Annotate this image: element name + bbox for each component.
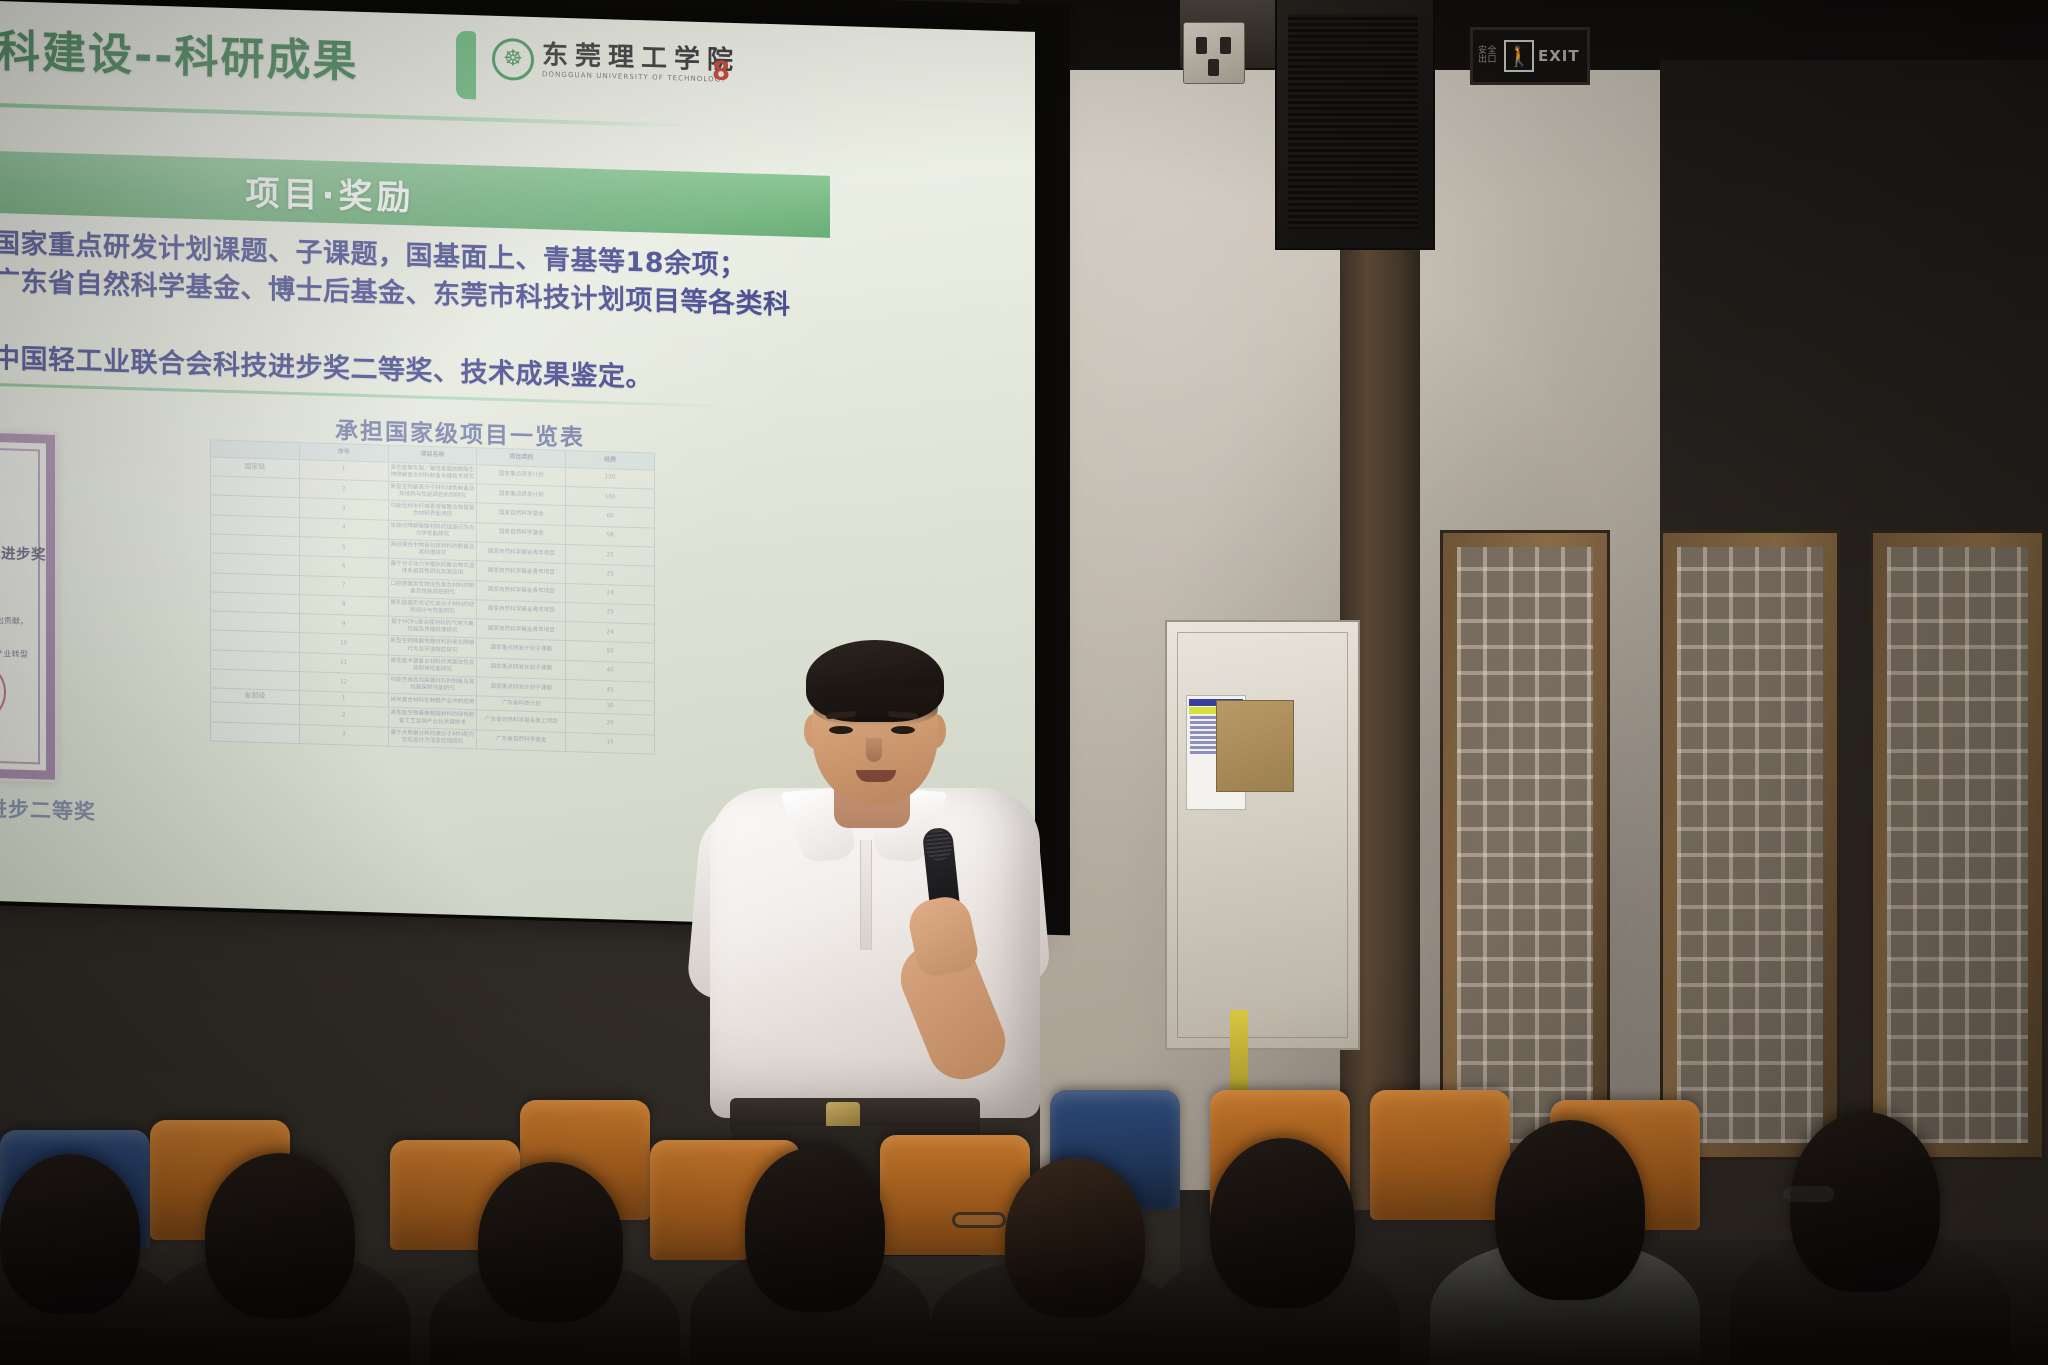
cell-name: 基于MOFs复合膜材料的气体分离性能及传输机理研究 [388, 616, 477, 638]
cell-type: 国家自然科学基金 [477, 503, 566, 525]
cell-index: 4 [299, 517, 388, 539]
university-logo: ☸ 东莞理工学院 DONGGUAN UNIVERSITY OF TECHNOLO… [492, 38, 740, 87]
cell-amount: 25 [566, 564, 655, 586]
cell-index: 5 [299, 536, 388, 558]
exit-sign: 安全出口 🚶 EXIT [1470, 27, 1590, 85]
section-banner: 项目·奖励 [0, 146, 830, 238]
presenter-shirt-placket [860, 840, 872, 950]
cell-group [211, 702, 300, 724]
cell-group [211, 515, 300, 537]
cell-name: 基于分子动力学模拟的聚合物共混体系相容性研究及其应用 [388, 558, 477, 580]
cell-group [211, 592, 300, 614]
cell-name: 新型生物降解地膜材料的老化降解行为及环境效应研究 [388, 636, 477, 658]
cell-amount: 25 [566, 602, 655, 624]
cell-index: 3 [299, 498, 388, 520]
award-certificate: 中国轻工业联合会科学技术进步奖 证书 为表彰在轻工业科学技术进步中做出突出贡献，… [0, 428, 55, 780]
cell-group [211, 650, 300, 672]
presenter-nose [866, 738, 882, 762]
wall-socket-icon [1183, 22, 1245, 84]
exit-sign-label-en: EXIT [1538, 47, 1580, 65]
cell-group: 国家级 [211, 457, 300, 479]
cell-index: 10 [299, 633, 388, 655]
cell-index: 1 [299, 459, 388, 481]
cell-group [211, 495, 300, 517]
cell-type: 国家重点研发计划子课题 [477, 677, 566, 699]
cell-index: 9 [299, 614, 388, 636]
certificate-field: 项目名称： 生产性服务业促进东莞制鞋产业转型升级研究 [0, 642, 28, 677]
cell-type: 国家重点研发计划 [477, 484, 566, 506]
cell-name: 功能化纳米纤维素增强聚合物基复合材料界面调控 [388, 501, 477, 523]
slide-bullet-list: 国家级项目：国家重点研发计划课题、子课题，国基面上、青基等18余项； 其他类项目… [0, 220, 788, 402]
chair[interactable] [1370, 1090, 1510, 1220]
cell-type: 广东省自然科学基金 [477, 730, 566, 752]
cell-name: 高性能生物基聚氨酯材料的绿色制备工艺及其产业化关键技术 [388, 708, 477, 730]
cell-index: 3 [299, 724, 388, 746]
cell-type: 国家自然科学基金青年项目 [477, 619, 566, 641]
section-banner-label: 项目·奖励 [246, 165, 415, 219]
cell-group [211, 553, 300, 575]
cell-group [211, 669, 300, 691]
notice-panel-inner [1177, 632, 1348, 1038]
door-far-right[interactable] [1870, 530, 2045, 1160]
wall-notice-panel-icon [1165, 620, 1360, 1050]
cell-amount: 120 [566, 467, 655, 489]
cell-index: 2 [299, 705, 388, 727]
door-grille [1677, 547, 1823, 1143]
cell-name: 高阻隔性生物基包装材料的制备及其机理研究 [388, 539, 477, 561]
cell-name: 高性能木塑复合材料的界面改性及其耐候性能研究 [388, 655, 477, 677]
cell-group [211, 611, 300, 633]
presenter-eye-left [829, 726, 853, 734]
cell-group [211, 476, 300, 498]
cell-group [211, 534, 300, 556]
certificate-word: 证书 [0, 565, 46, 611]
presenter-mouth [856, 770, 896, 782]
floor-shadow [0, 1245, 2048, 1365]
door-grille [1887, 547, 2028, 1143]
cell-name: 生物可降解聚酯材料的结晶行为与力学性能研究 [388, 520, 477, 542]
cell-type: 国家重点研发计划 [477, 465, 566, 487]
audience-glasses-icon [1780, 1186, 1834, 1202]
cell-type: 国家重点研发计划子课题 [477, 638, 566, 660]
door-grille [1457, 547, 1593, 1143]
cell-type: 广东省自然科学基金面上项目 [477, 710, 566, 732]
presenter-eye-right [891, 726, 915, 734]
cell-name: 聚乳酸基形状记忆高分子材料的结构设计与性能研究 [388, 597, 477, 619]
cell-name: 新型生物基高分子材料绿色制备及其结构与性能调控机制研究 [388, 481, 477, 503]
cell-type: 国家自然科学基金青年项目 [477, 542, 566, 564]
cell-amount: 20 [566, 713, 655, 735]
presenter-hair [806, 640, 944, 722]
cell-type: 国家重点研发计划子课题 [477, 658, 566, 680]
cell-amount: 100 [566, 486, 655, 508]
cell-amount: 45 [566, 680, 655, 702]
cell-type: 国家自然科学基金青年项目 [477, 580, 566, 602]
kraft-notice [1216, 700, 1294, 792]
cell-amount: 40 [566, 660, 655, 682]
cell-amount: 15 [566, 732, 655, 754]
cell-index: 7 [299, 575, 388, 597]
header-bracket [456, 31, 476, 100]
cell-group [211, 722, 300, 744]
running-person-exit-icon: 🚶 [1504, 40, 1534, 72]
cell-name: 口腔修复用生物活性复合材料的制备及性能调控研究 [388, 578, 477, 600]
cell-index: 2 [299, 479, 388, 501]
cell-index: 11 [299, 652, 388, 674]
certificate-field-value: 生产性服务业促进东莞制鞋产业转型升级研究 [0, 644, 28, 678]
university-emblem-icon: ☸ [492, 38, 534, 81]
cell-name: 功能性食品包装膜材料的制备及其抗菌保鲜性能研究 [388, 674, 477, 696]
cell-index: 8 [299, 594, 388, 616]
exit-sign-label-cn: 安全出口 [1478, 47, 1500, 66]
certificate-body-text: 为表彰在轻工业科学技术进步中做出突出贡献，特颁发此证书。 [0, 610, 28, 645]
cell-group [211, 572, 300, 594]
cell-amount: 24 [566, 622, 655, 644]
door-right[interactable] [1660, 530, 1840, 1160]
slide-page-number: 8 [712, 56, 730, 87]
cell-name: 基于大数据分析的高分子材料配方优化设计方法及应用研究 [388, 727, 477, 749]
header-rule [0, 98, 700, 128]
cell-amount: 60 [566, 506, 655, 528]
cell-amount: 25 [566, 544, 655, 566]
cell-amount: 50 [566, 641, 655, 663]
certificate-caption: 业联合会科学技术进步二等奖 [0, 788, 140, 828]
cell-amount: 58 [566, 525, 655, 547]
audience-glasses-icon [952, 1212, 1006, 1228]
project-table-body: 国家级1高性能聚乳酸／聚羟基脂肪酸酯生物降解复合材料制备关键技术研究国家重点研发… [211, 457, 655, 755]
university-logo-names: 东莞理工学院 DONGGUAN UNIVERSITY OF TECHNOLOGY [542, 43, 740, 84]
cell-group [211, 630, 300, 652]
cell-type: 国家自然科学基金青年项目 [477, 600, 566, 622]
project-table: 序号 项目名称 项目类别 经费 国家级1高性能聚乳酸／聚羟基脂肪酸酯生物降解复合… [210, 439, 655, 754]
cell-index: 12 [299, 672, 388, 694]
cell-index: 6 [299, 556, 388, 578]
cell-type: 国家自然科学基金青年项目 [477, 561, 566, 583]
door-left[interactable] [1440, 530, 1610, 1160]
cell-amount: 24 [566, 583, 655, 605]
cell-name: 高性能聚乳酸／聚羟基脂肪酸酯生物降解复合材料制备关键技术研究 [388, 462, 477, 484]
lecture-hall-photo: 安全出口 🚶 EXIT 学科建设--科研成果 ☸ 东莞理工学院 [0, 0, 2048, 1365]
slide-title: 学科建设--科研成果 [0, 14, 359, 90]
speaker-grille [1288, 14, 1418, 229]
cell-type: 国家自然科学基金 [477, 522, 566, 544]
